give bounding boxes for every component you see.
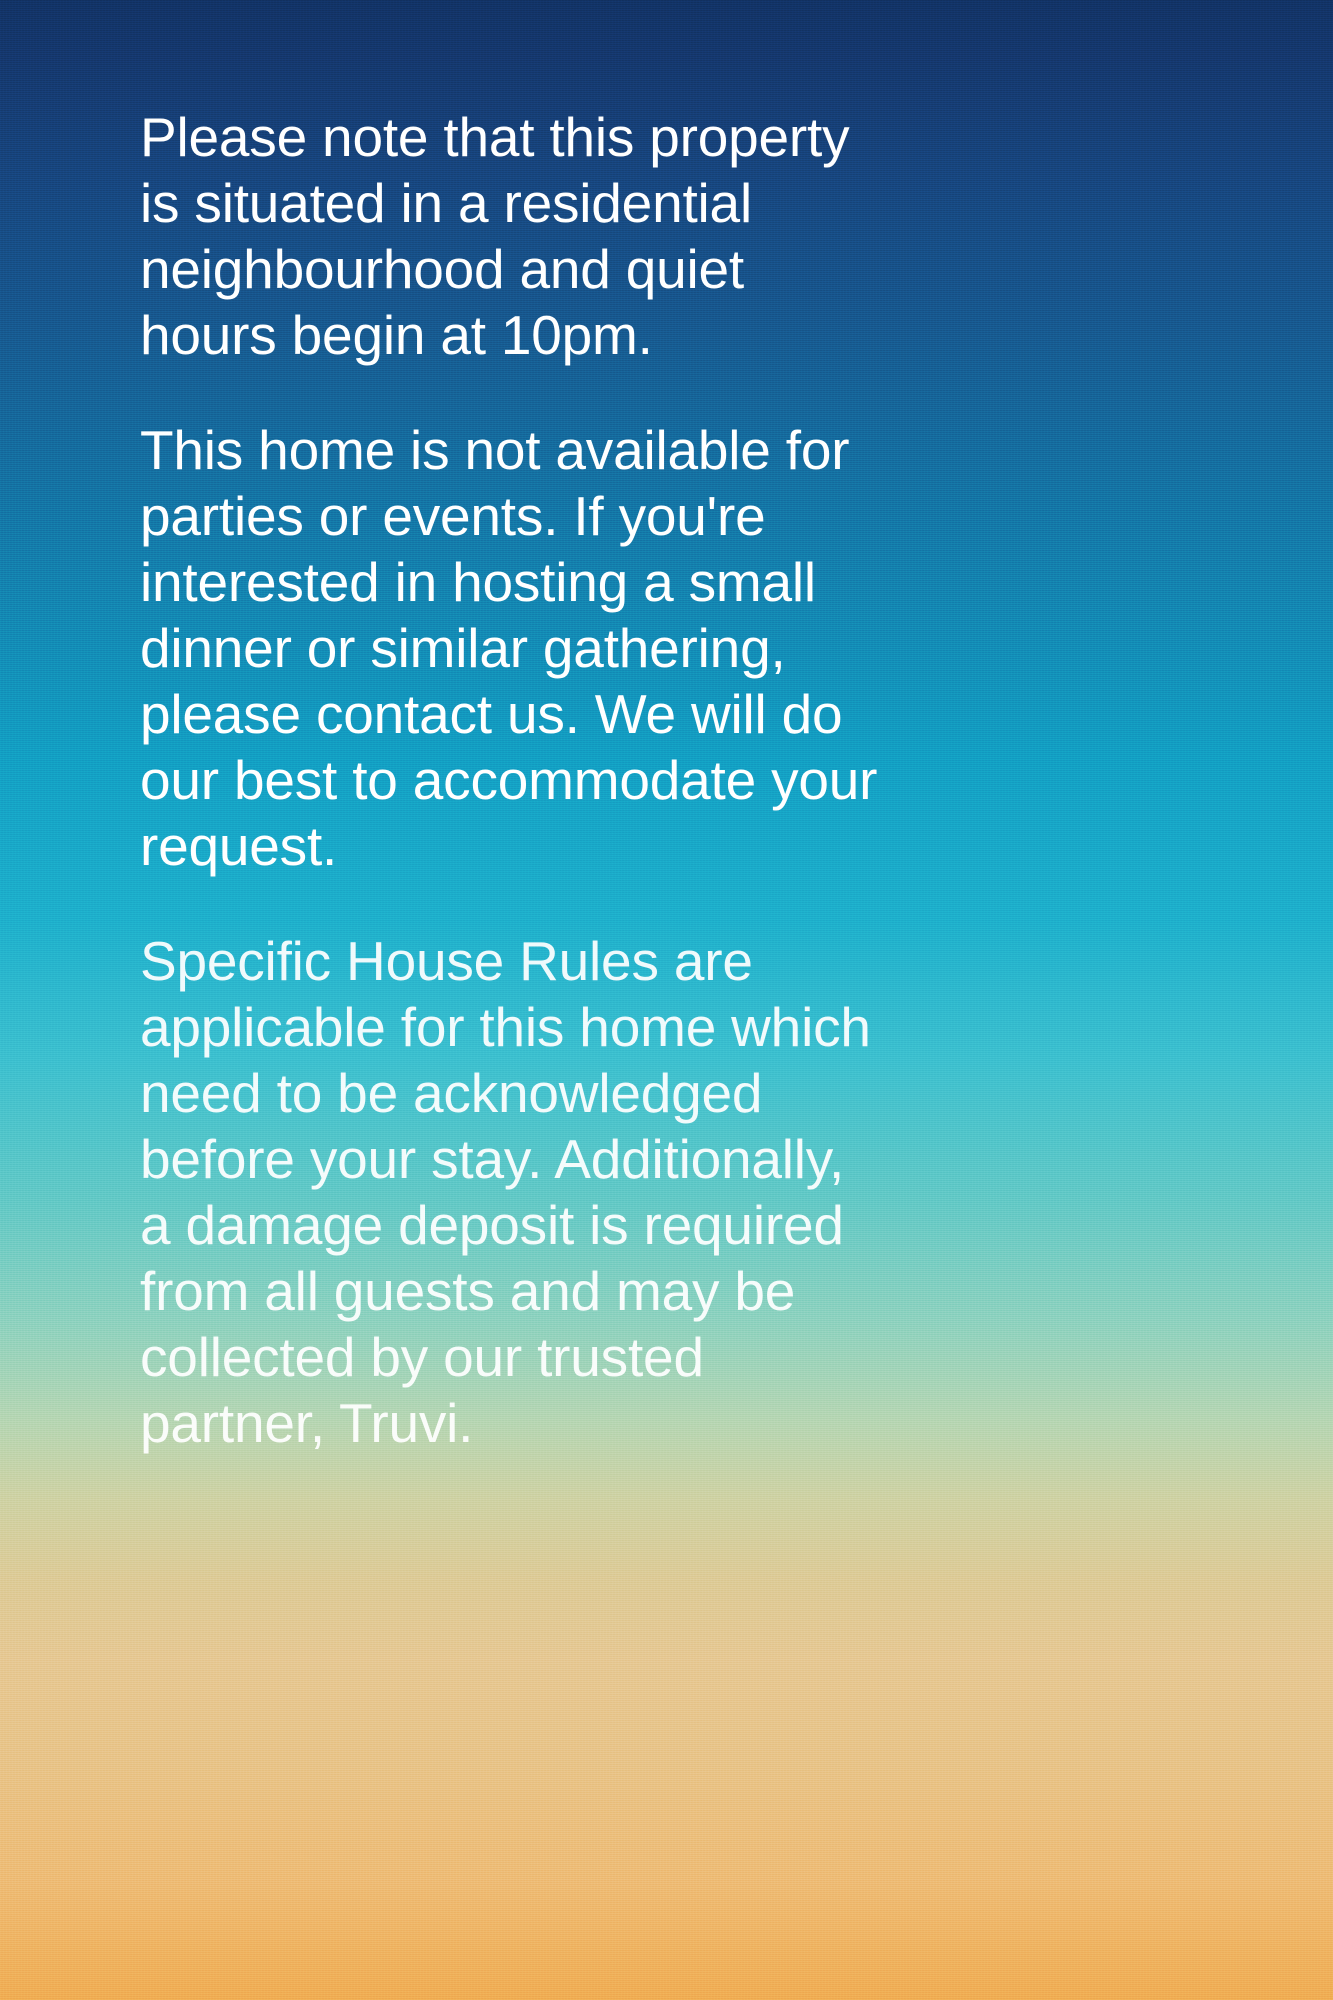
notice-text-block: Please note that this property is situat… [140,104,1200,1456]
notice-card: Please note that this property is situat… [0,0,1333,2000]
paragraph-specific-rules-deposit: Specific House Rules are applicable for … [140,928,1200,1456]
paragraph-no-parties: This home is not available for parties o… [140,417,1200,879]
paragraph-quiet-hours: Please note that this property is situat… [140,104,1200,368]
